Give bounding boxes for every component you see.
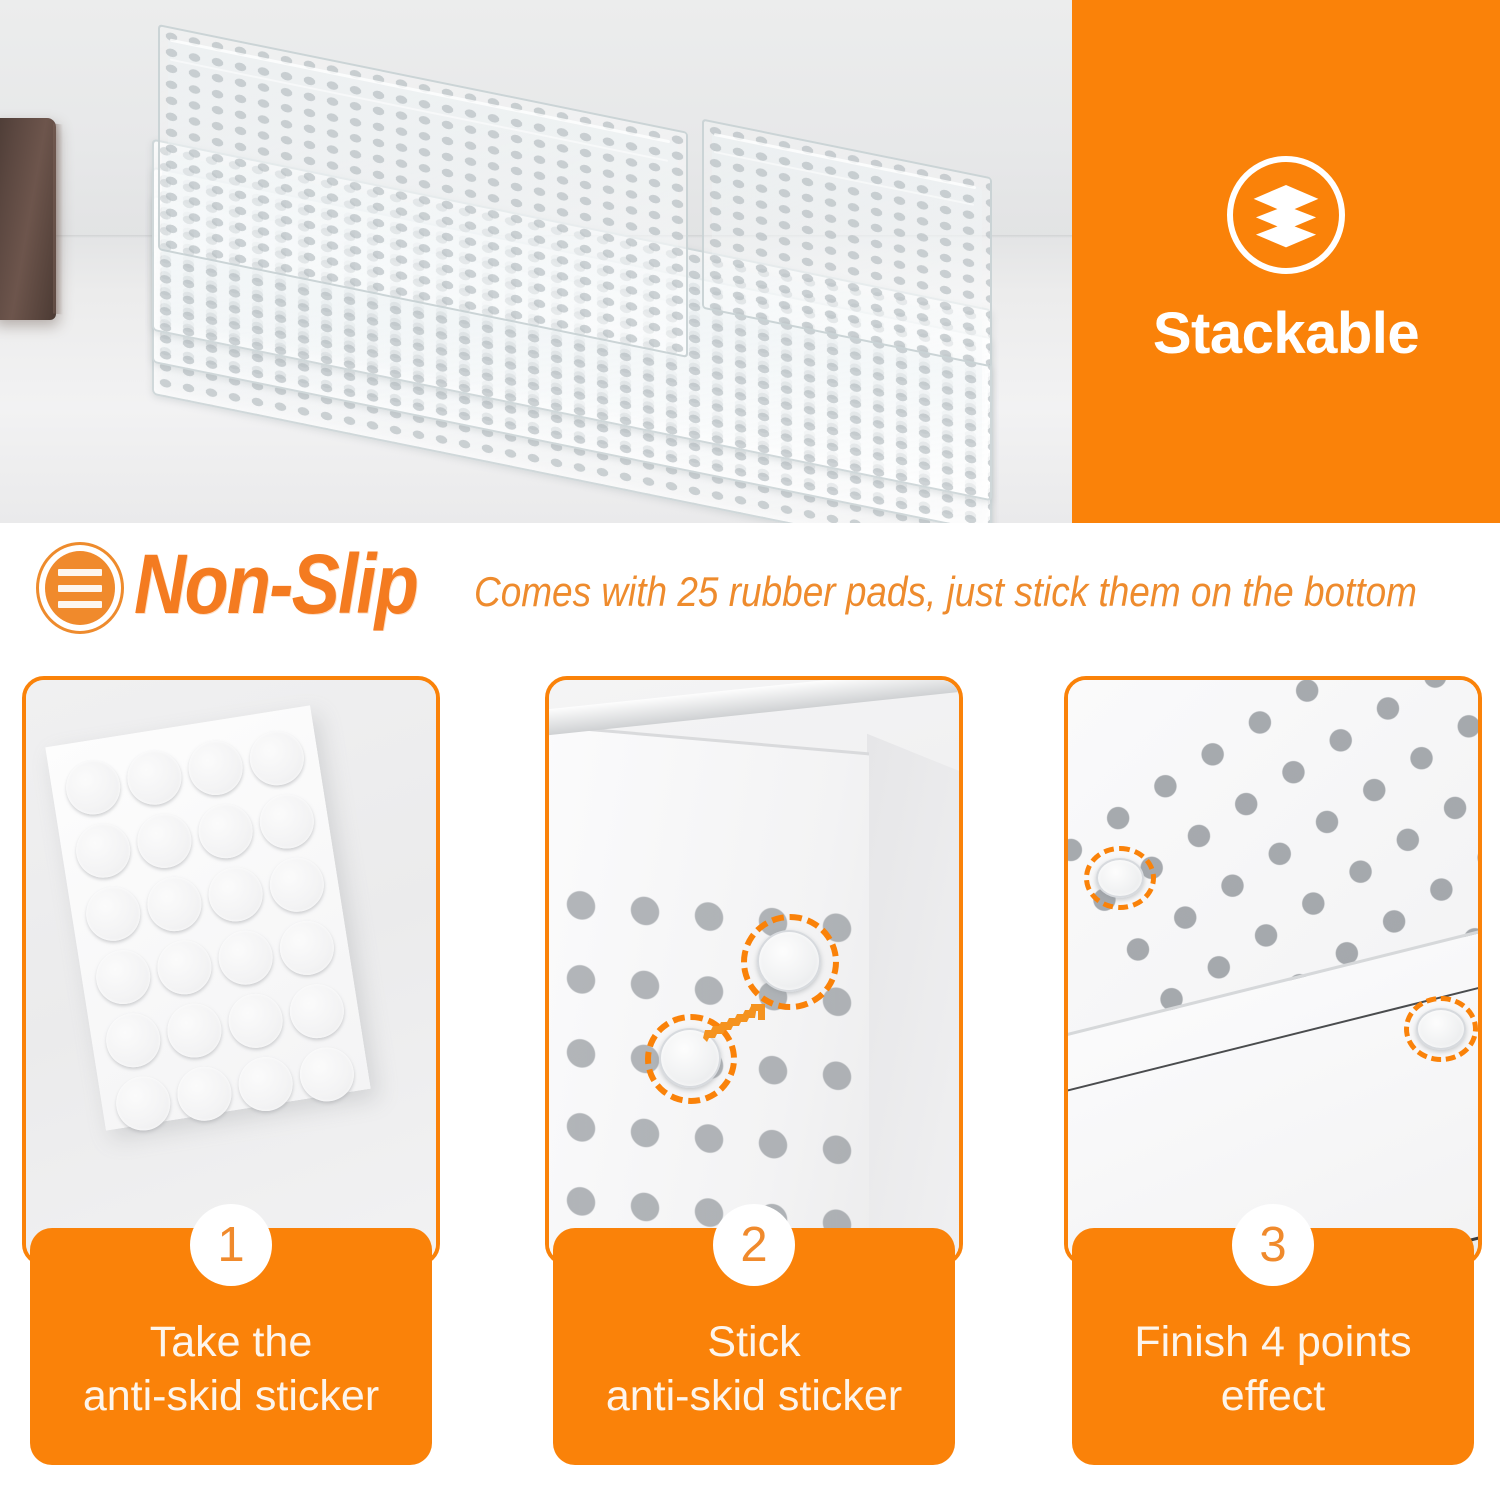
sticker-pad: [185, 737, 247, 799]
step-1-caption-text: Take the anti-skid sticker: [83, 1315, 379, 1423]
icon-bar: [58, 569, 102, 576]
sticker-pad: [286, 980, 348, 1042]
sticker-pad: [266, 854, 328, 916]
non-slip-header: Non-Slip Comes with 25 rubber pads, just…: [0, 528, 1500, 648]
icon-bar: [58, 585, 102, 592]
sticker-pad: [215, 927, 277, 989]
step-1-photo: [22, 676, 440, 1266]
sticker-pad: [276, 917, 338, 979]
sticker-pad: [246, 727, 308, 789]
step-card-2[interactable]: 2 Stick anti-skid sticker: [545, 676, 963, 1466]
sticker-pad: [225, 990, 287, 1052]
icon-disc: [45, 551, 115, 625]
sticker-pad: [235, 1053, 297, 1115]
product-infographic: Stackable Non-Slip Comes with 25 rubber …: [0, 0, 1500, 1487]
step-2-caption-text: Stick anti-skid sticker: [606, 1315, 902, 1423]
sticker-motion-arrow: [701, 998, 771, 1052]
sticker-pad: [134, 810, 196, 872]
step-2-photo: [545, 676, 963, 1266]
sticker-pad: [112, 1073, 174, 1135]
caption-line: effect: [1134, 1369, 1411, 1423]
caption-line: anti-skid sticker: [606, 1369, 902, 1423]
step-1-number: 1: [190, 1204, 272, 1286]
sticker-pad: [256, 791, 318, 853]
sticker-pad: [195, 800, 257, 862]
sticker-pad: [154, 936, 216, 998]
hero-section: Stackable: [0, 0, 1500, 523]
sticker-pad: [174, 1063, 236, 1125]
sticker-highlight-ring: [741, 914, 839, 1010]
step-3-photo: [1064, 676, 1482, 1266]
sticker-pad: [102, 1009, 164, 1071]
layers-stack-icon: [1227, 156, 1345, 274]
sticker-grid: [62, 727, 358, 1134]
caption-line: anti-skid sticker: [83, 1369, 379, 1423]
caption-line: Finish 4 points: [1134, 1315, 1411, 1369]
caption-line: Take the: [83, 1315, 379, 1369]
step-3-number: 3: [1232, 1204, 1314, 1286]
stackable-badge-panel: Stackable: [1072, 0, 1500, 523]
sticker-highlight-ring: [1404, 996, 1478, 1062]
sticker-pad: [144, 873, 206, 935]
sticker-pad: [164, 1000, 226, 1062]
sticker-pad: [82, 883, 144, 945]
non-slip-title: Non-Slip: [134, 536, 417, 632]
hero-product-photo: [0, 0, 1072, 523]
tray-side-wall: [867, 734, 963, 1266]
caption-line: Stick: [606, 1315, 902, 1369]
tray-stack: [112, 74, 1012, 494]
sticker-pad: [72, 820, 134, 882]
sticker-pad: [92, 946, 154, 1008]
step-card-3[interactable]: 3 Finish 4 points effect: [1064, 676, 1482, 1466]
sticker-pad: [62, 756, 124, 818]
step-card-1[interactable]: 1 Take the anti-skid sticker: [22, 676, 440, 1466]
step-2-number: 2: [713, 1204, 795, 1286]
non-slip-subtitle: Comes with 25 rubber pads, just stick th…: [474, 564, 1417, 620]
sticker-pad: [296, 1043, 358, 1105]
sticker-highlight-ring: [1084, 846, 1156, 910]
non-slip-lines-icon: [36, 542, 124, 634]
steps-section: 1 Take the anti-skid sticker: [0, 676, 1500, 1476]
icon-bar: [58, 601, 102, 608]
step-3-caption-text: Finish 4 points effect: [1134, 1315, 1411, 1423]
stackable-label: Stackable: [1153, 300, 1419, 367]
sticker-pad: [123, 747, 185, 809]
dark-box-prop: [0, 118, 56, 320]
sticker-pad: [205, 863, 267, 925]
